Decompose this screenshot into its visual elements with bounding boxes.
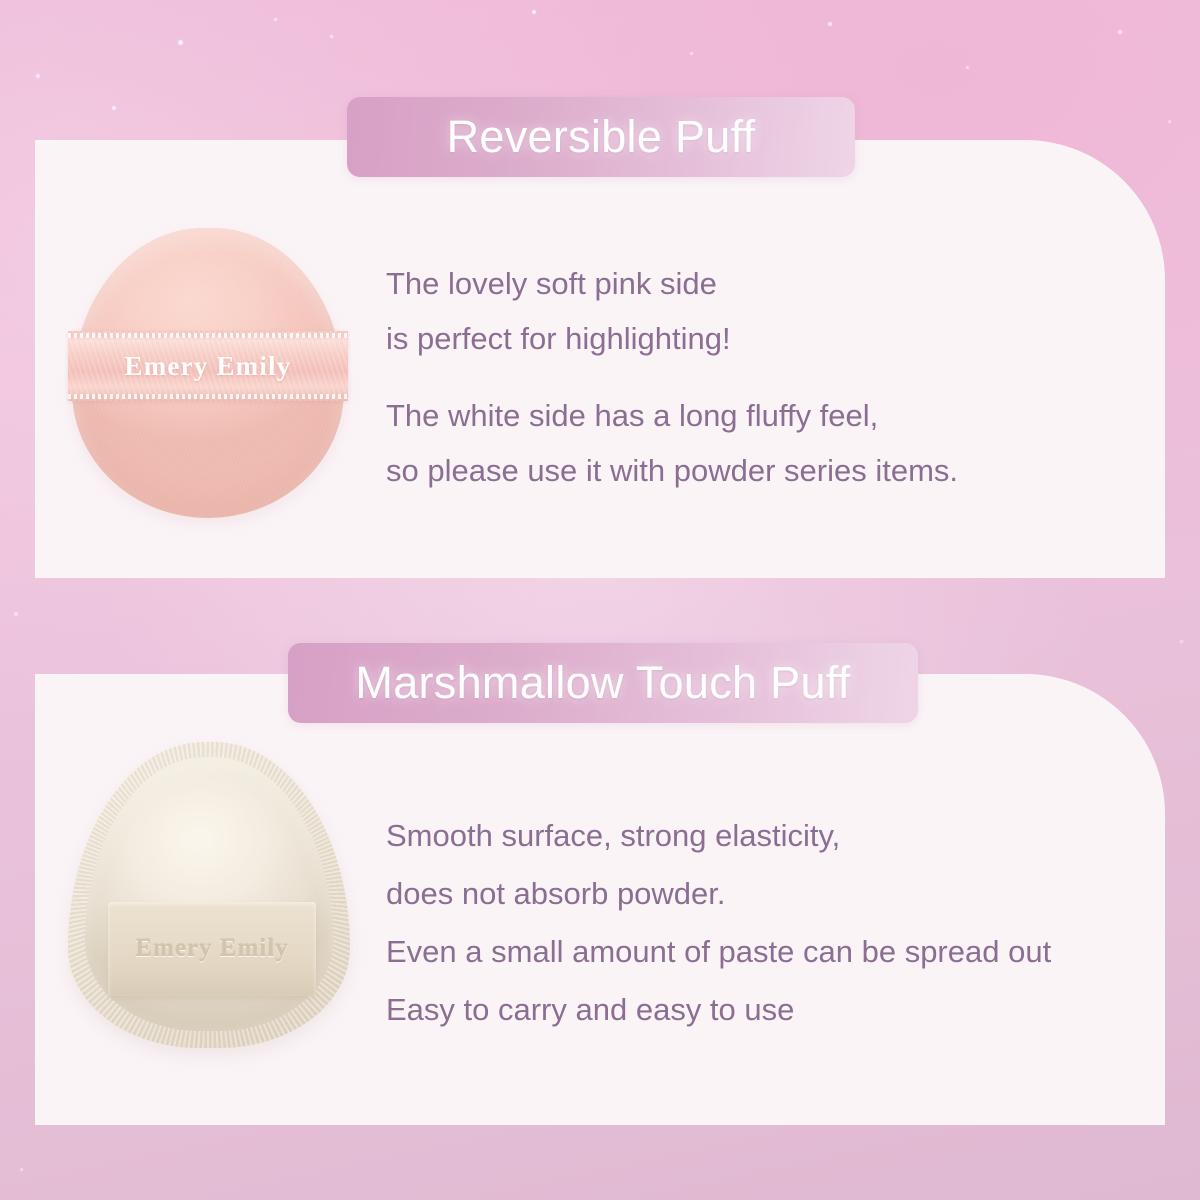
copy-spacer <box>386 378 958 400</box>
banner-title: Reversible Puff <box>447 111 756 163</box>
copy-line: Smooth surface, strong elasticity, <box>386 820 1051 851</box>
description-reversible-puff: The lovely soft pink side is perfect for… <box>386 268 958 510</box>
copy-line: does not absorb powder. <box>386 878 1051 909</box>
copy-line: is perfect for highlighting! <box>386 323 958 354</box>
copy-line: The white side has a long fluffy feel, <box>386 400 958 431</box>
product-infographic: Emery Emily Reversible Puff The lovely s… <box>0 0 1200 1200</box>
brand-label: Emery Emily <box>108 902 316 996</box>
description-marshmallow-touch-puff: Smooth surface, strong elasticity, does … <box>386 820 1051 1052</box>
puff-finger-strap: Emery Emily <box>108 902 316 996</box>
cream-marshmallow-puff-image: Emery Emily <box>68 742 350 1048</box>
copy-line: Easy to carry and easy to use <box>386 994 1051 1025</box>
banner-title: Marshmallow Touch Puff <box>355 657 850 709</box>
brand-label: Emery Emily <box>68 331 348 401</box>
copy-line: so please use it with powder series item… <box>386 455 958 486</box>
copy-line: The lovely soft pink side <box>386 268 958 299</box>
section-banner-marshmallow-touch-puff: Marshmallow Touch Puff <box>288 643 918 723</box>
copy-line: Even a small amount of paste can be spre… <box>386 936 1051 967</box>
pink-powder-puff-image: Emery Emily <box>72 228 344 518</box>
section-banner-reversible-puff: Reversible Puff <box>347 97 855 177</box>
puff-ribbon: Emery Emily <box>68 331 348 401</box>
